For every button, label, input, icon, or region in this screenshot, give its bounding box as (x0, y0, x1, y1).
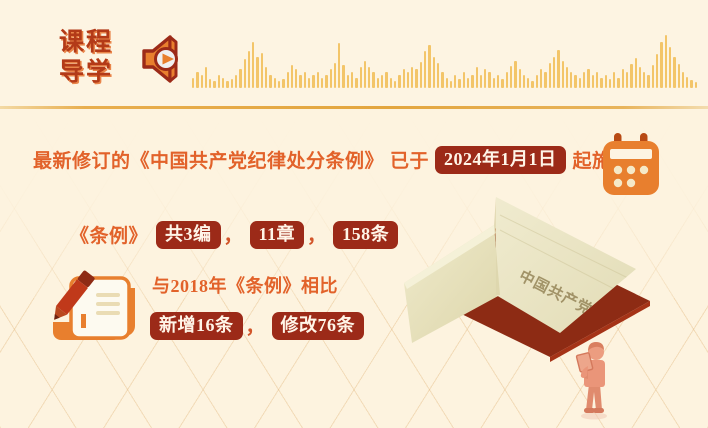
waveform-bar (338, 43, 340, 88)
waveform-bar (523, 75, 525, 88)
waveform-bar (493, 78, 495, 88)
waveform-bar (669, 47, 671, 88)
waveform-bar (317, 72, 319, 88)
line1-before-text: 最新修订的《中国共产党纪律处分条例》 (33, 146, 384, 173)
waveform-bar (428, 45, 430, 88)
waveform-bar (678, 64, 680, 88)
waveform-bar (695, 82, 697, 88)
waveform-bar (682, 72, 684, 88)
waveform-bar (501, 79, 503, 88)
statement-line-4: 新增16条 ， 修改76条 (150, 312, 364, 340)
waveform-bar (643, 72, 645, 88)
waveform-bar (446, 78, 448, 88)
waveform-bar (226, 81, 228, 88)
chip-revised-articles: 修改76条 (272, 312, 365, 340)
waveform-bar (411, 67, 413, 88)
waveform-bar (596, 72, 598, 88)
waveform-bar (205, 67, 207, 88)
waveform-bar (231, 79, 233, 88)
statement-line-1: 最新修订的《中国共产党纪律处分条例》 已于 2024年1月1日 起施行 (33, 146, 631, 174)
waveform-bar (403, 69, 405, 88)
separator-2: ， (304, 221, 333, 248)
speaker-play-icon[interactable] (136, 33, 192, 85)
waveform-bar (342, 65, 344, 88)
waveform-bar (570, 72, 572, 88)
waveform-bar (609, 79, 611, 88)
waveform-bar (467, 78, 469, 88)
waveform-bar (201, 75, 203, 88)
waveform-bar (450, 81, 452, 88)
waveform-bar (553, 57, 555, 88)
waveform-bar (265, 67, 267, 88)
waveform-bar (463, 72, 465, 88)
waveform-bar (364, 61, 366, 88)
waveform-bar (256, 57, 258, 88)
waveform-bar (441, 72, 443, 88)
chip-added-articles: 新增16条 (150, 312, 243, 340)
waveform-bar (536, 75, 538, 88)
waveform-bar (321, 78, 323, 88)
waveform-bar (209, 79, 211, 88)
waveform-bar (192, 78, 194, 88)
waveform-bar (304, 72, 306, 88)
waveform-bar (583, 72, 585, 88)
waveform-bar (368, 67, 370, 88)
waveform-bar (497, 75, 499, 88)
logo-char-4: 学 (86, 58, 111, 86)
waveform-bar (377, 78, 379, 88)
waveform-bar (613, 72, 615, 88)
waveform-bar (196, 72, 198, 88)
waveform-bar (617, 78, 619, 88)
waveform-bar (665, 35, 667, 88)
waveform-bar (600, 78, 602, 88)
logo-char-1: 课 (59, 28, 84, 56)
waveform-bar (252, 42, 254, 88)
waveform-bar (557, 50, 559, 88)
separator-1: ， (221, 221, 250, 248)
comparison-text: 与2018年《条例》相比 (152, 272, 338, 298)
person-reading-illustration (572, 340, 618, 420)
waveform-bar (235, 75, 237, 88)
waveform-bar (398, 75, 400, 88)
waveform-bar (218, 75, 220, 88)
waveform-bar (390, 78, 392, 88)
waveform-bar (510, 66, 512, 88)
waveform-bar (274, 78, 276, 88)
waveform-bar (330, 69, 332, 88)
waveform-bar (299, 75, 301, 88)
waveform-bar (605, 75, 607, 88)
waveform-bar (347, 75, 349, 88)
waveform-bar (540, 69, 542, 88)
waveform-bar (652, 65, 654, 88)
waveform-bar (295, 69, 297, 88)
waveform-bar (433, 57, 435, 88)
separator-3: ， (243, 312, 272, 339)
waveform-bar (660, 42, 662, 88)
waveform-bar (372, 72, 374, 88)
statement-line-2: 《条例》 共3编 ， 11章 ， 158条 (70, 221, 398, 249)
waveform-bar (587, 69, 589, 88)
waveform-bar (484, 69, 486, 88)
waveform-bar (381, 75, 383, 88)
waveform-bar (424, 51, 426, 88)
waveform-bar (506, 72, 508, 88)
course-guide-logo: 课 程 导 学 (59, 28, 125, 86)
waveform-bar (549, 63, 551, 88)
waveform-bar (312, 75, 314, 88)
waveform-bar (308, 78, 310, 88)
waveform-bar (291, 65, 293, 88)
waveform-bar (244, 59, 246, 88)
waveform-bar (355, 78, 357, 88)
scroll-pen-icon (35, 266, 139, 342)
waveform-bar (222, 78, 224, 88)
waveform-bar (351, 72, 353, 88)
waveform-bar (531, 81, 533, 88)
waveform-bar (635, 58, 637, 88)
waveform-bar (213, 81, 215, 88)
waveform-bar (248, 51, 250, 88)
logo-char-2: 程 (86, 28, 111, 56)
waveform-bar (471, 75, 473, 88)
waveform-bar (269, 75, 271, 88)
waveform-bar (622, 69, 624, 88)
chip-articles: 158条 (333, 221, 398, 249)
regulation-label: 《条例》 (70, 221, 156, 248)
waveform-bar (437, 63, 439, 88)
header-bar: 课 程 导 学 (0, 0, 708, 108)
waveform-bar (407, 72, 409, 88)
header-divider (0, 106, 708, 109)
line1-mid-text: 已于 (384, 146, 435, 173)
waveform-bar (282, 79, 284, 88)
waveform-bar (514, 61, 516, 88)
waveform-bar (458, 79, 460, 88)
waveform-bar (626, 72, 628, 88)
waveform-bar (686, 77, 688, 88)
waveform-bar (574, 75, 576, 88)
waveform-bar (592, 75, 594, 88)
effective-date-chip: 2024年1月1日 (435, 146, 566, 174)
waveform-bar (480, 75, 482, 88)
waveform-bar (647, 75, 649, 88)
waveform-bar (544, 72, 546, 88)
chip-volumes: 共3编 (156, 221, 221, 249)
waveform-bar (476, 67, 478, 88)
waveform-bar (519, 69, 521, 88)
waveform-bar (454, 75, 456, 88)
waveform-bar (278, 81, 280, 88)
waveform-bar (656, 54, 658, 88)
statement-line-3: 与2018年《条例》相比 (152, 272, 338, 298)
waveform-bar (287, 72, 289, 88)
audio-waveform (192, 30, 697, 88)
waveform-bar (690, 80, 692, 88)
waveform-bar (488, 72, 490, 88)
waveform-bar (579, 78, 581, 88)
chip-chapters: 11章 (250, 221, 305, 249)
waveform-bar (325, 75, 327, 88)
infographic-canvas: 课 程 导 学 最新修订的《中国共产党纪律处分条例》 已于 2024年 (0, 0, 708, 428)
waveform-bar (673, 57, 675, 88)
waveform-bar (360, 67, 362, 88)
waveform-bar (415, 69, 417, 88)
open-book-illustration: 中国共产党纪律处分条例 (400, 175, 660, 365)
waveform-bar (562, 61, 564, 88)
waveform-bar (527, 78, 529, 88)
waveform-bar (630, 64, 632, 88)
waveform-bar (639, 67, 641, 88)
waveform-bar (420, 62, 422, 88)
logo-char-3: 导 (59, 58, 84, 86)
waveform-bar (566, 67, 568, 88)
waveform-bar (261, 53, 263, 88)
waveform-bar (385, 72, 387, 88)
waveform-bar (334, 63, 336, 88)
waveform-bar (239, 69, 241, 88)
waveform-bar (394, 81, 396, 88)
